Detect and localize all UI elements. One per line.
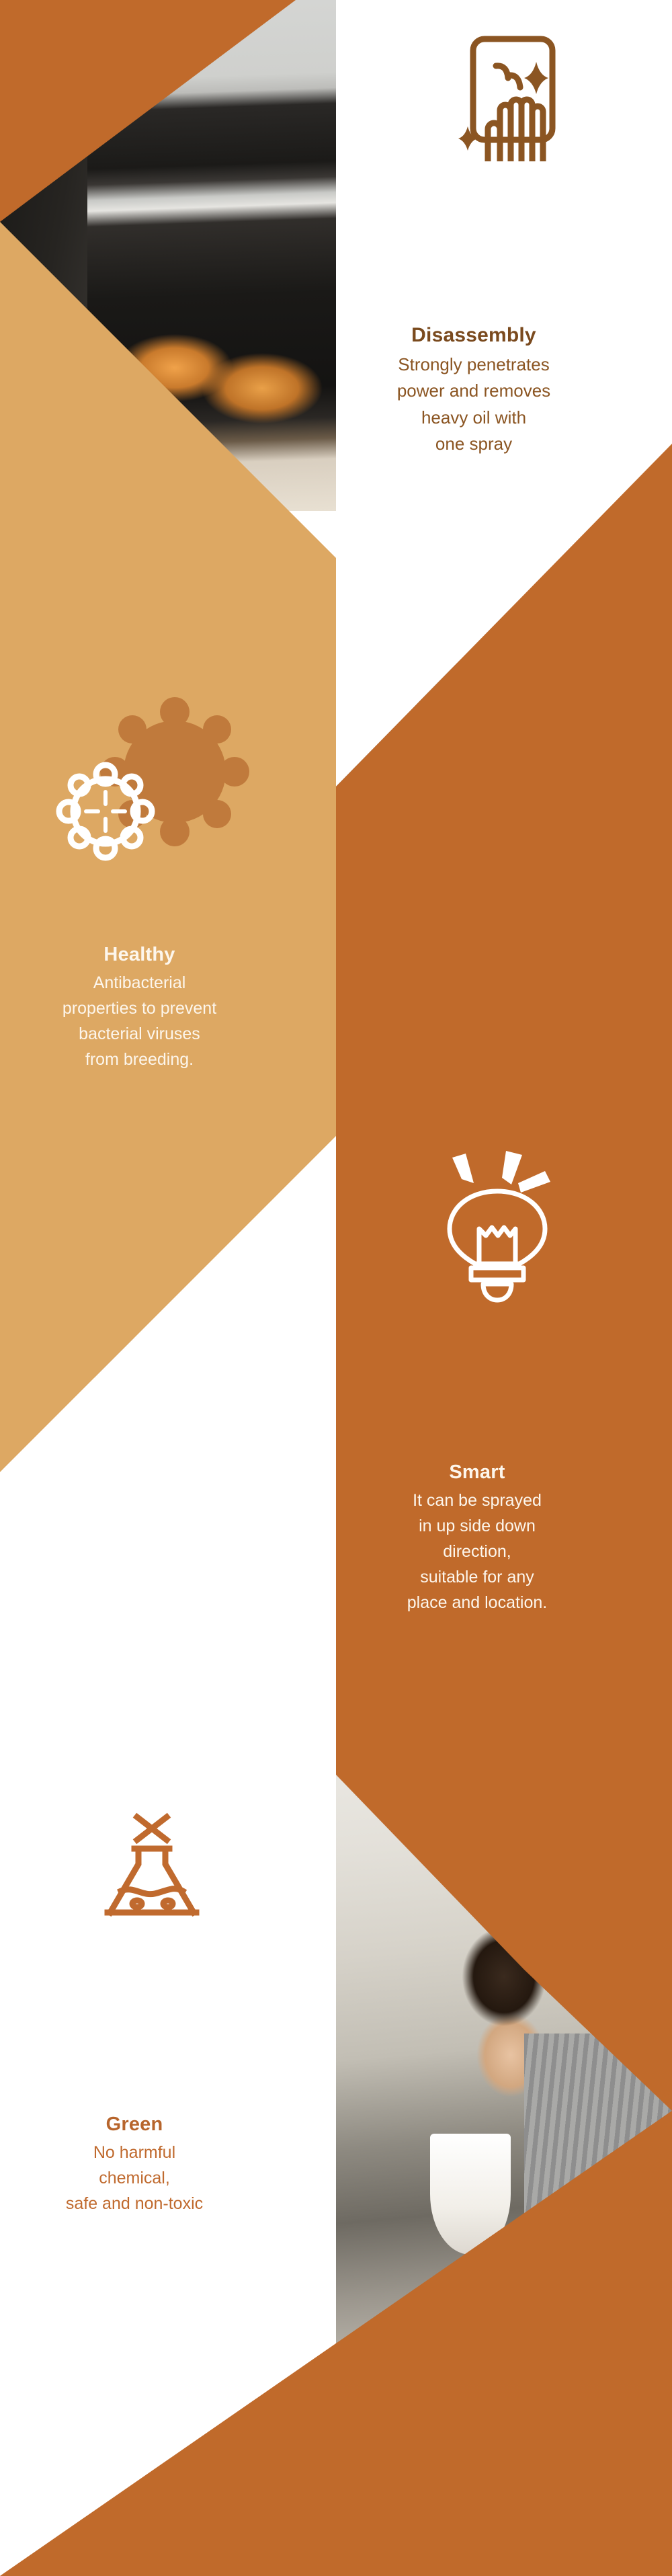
healthy-body-line-1: Antibacterial [0, 970, 279, 996]
disassembly-body-line-4: one spray [339, 431, 608, 458]
no-chemical-flask-icon [87, 1812, 222, 1929]
lightbulb-idea-icon [427, 1150, 568, 1318]
healthy-body-line-4: from breeding. [0, 1047, 279, 1072]
smart-body-line-1: It can be sprayed [336, 1488, 618, 1513]
product-feature-infographic: Disassembly Strongly penetrates power an… [0, 0, 672, 2576]
man-holding-coffee-cup-photo [336, 1734, 672, 2447]
green-title: Green [0, 2111, 269, 2138]
oven-with-baked-food-photo [0, 0, 336, 511]
flask-bubble-left [132, 1900, 142, 1907]
healthy-title: Healthy [0, 941, 279, 969]
smart-text-block: Smart It can be sprayed in up side down … [336, 1459, 618, 1615]
spray-wipe-hand-sparkle-icon [457, 27, 571, 161]
disassembly-body-line-1: Strongly penetrates [339, 352, 608, 378]
flask-x-mark [137, 1817, 167, 1840]
green-text-block: Green No harmful chemical, safe and non-… [0, 2111, 269, 2216]
germ-crosshair [86, 792, 125, 831]
father-and-daughter-in-kitchen-photo [336, 491, 672, 1116]
green-body-line-2: chemical, [0, 2165, 269, 2191]
flask-bubble-right [163, 1900, 173, 1907]
smart-title: Smart [336, 1459, 618, 1486]
smart-body-line-2: in up side down [336, 1513, 618, 1539]
lightbulb-base-band [471, 1268, 523, 1280]
disassembly-title: Disassembly [339, 321, 608, 350]
green-body-line-3: safe and non-toxic [0, 2191, 269, 2216]
lightbulb-glass [450, 1191, 545, 1264]
healthy-text-block: Healthy Antibacterial properties to prev… [0, 941, 279, 1072]
healthy-body-line-3: bacterial viruses [0, 1021, 279, 1047]
disassembly-text-block: Disassembly Strongly penetrates power an… [339, 321, 608, 458]
flask-liquid-surface [121, 1889, 183, 1894]
hand-spraying-microwave-panel-photo [0, 1116, 336, 1741]
green-body-line-1: No harmful [0, 2140, 269, 2165]
healthy-body-line-2: properties to prevent [0, 996, 279, 1021]
smart-body-line-3: direction, [336, 1539, 618, 1564]
smart-body-line-4: suitable for any [336, 1564, 618, 1590]
lightbulb-rays [452, 1151, 550, 1193]
disassembly-body-line-2: power and removes [339, 378, 608, 405]
disassembly-body-line-3: heavy oil with [339, 405, 608, 432]
germ-large-filled [100, 697, 249, 846]
lightbulb-filament [479, 1227, 515, 1264]
lightbulb-base-tip [483, 1284, 511, 1300]
germ-virus-icon [30, 682, 252, 864]
smart-body-line-5: place and location. [336, 1590, 618, 1615]
germ-small-outline [59, 765, 152, 858]
